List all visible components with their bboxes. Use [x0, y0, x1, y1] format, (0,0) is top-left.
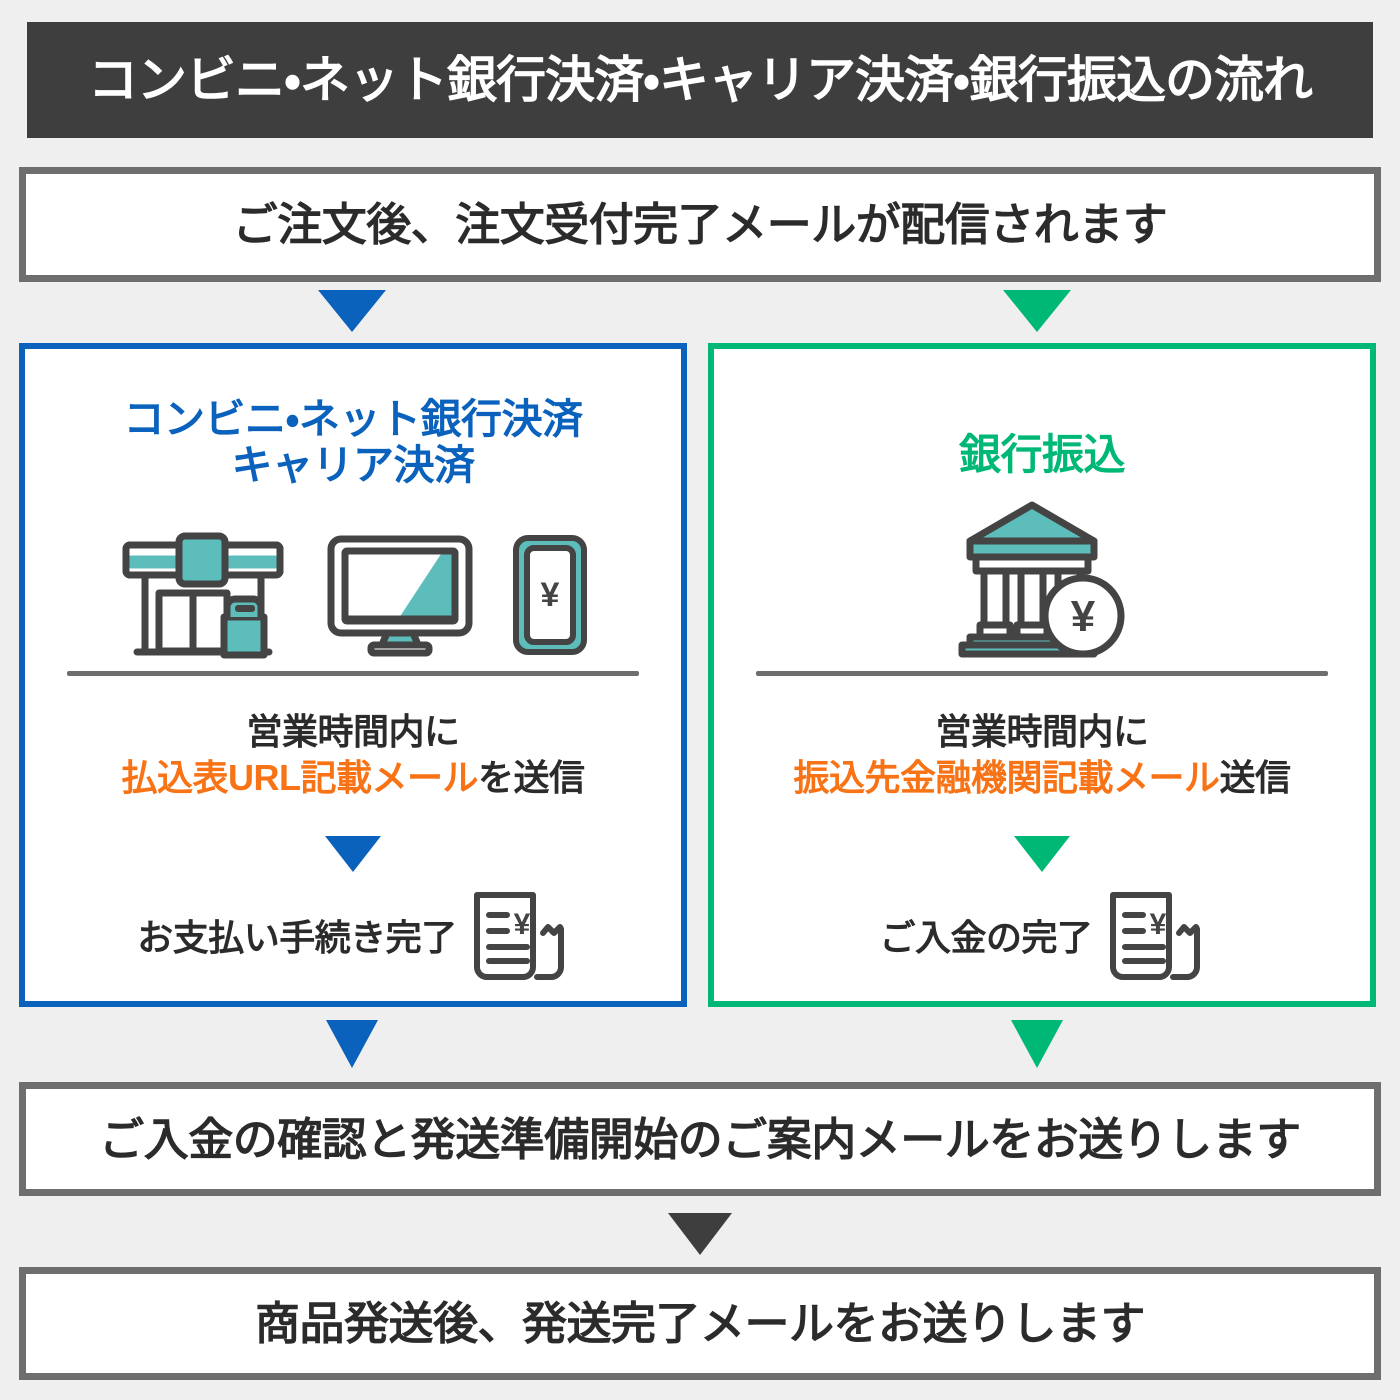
method-panel-bank-final: ご入金の完了 ¥: [714, 885, 1370, 985]
receipt-yen-icon: ¥: [1101, 887, 1205, 983]
method-panel-bank-heading-line1: 銀行振込: [959, 431, 1125, 478]
convenience-store-icon: [117, 531, 289, 659]
svg-text:¥: ¥: [1071, 592, 1096, 641]
method-panel-conveni-final: お支払い手続き完了 ¥: [25, 885, 681, 985]
method-panel-conveni-arrow-wrap: [25, 836, 681, 872]
down-arrow-icon-conveni-to-confirm: [326, 1020, 378, 1068]
bank-building-yen-icon: ¥: [956, 499, 1128, 659]
method-panel-conveni-note: 営業時間内に 払込表URL記載メールを送信: [25, 709, 681, 801]
method-panel-bank-note-suffix: 送信: [1220, 757, 1291, 798]
method-panel-conveni-note-line1: 営業時間内に: [246, 711, 459, 752]
down-arrow-icon-bank-step: [1014, 836, 1070, 872]
step-payment-confirmed-mail-label: ご入金の確認と発送準備開始のご案内メールをお送りします: [99, 1117, 1301, 1162]
method-panel-bank-note: 営業時間内に 振込先金融機関記載メール送信: [714, 709, 1370, 801]
step-order-received-mail-label: ご注文後、注文受付完了メールが配信されます: [233, 202, 1168, 247]
method-panel-bank-arrow-wrap: [714, 836, 1370, 872]
method-panel-conveni-divider: [67, 671, 639, 676]
diagram-title-bar: コンビニ・ネット銀行決済・キャリア決済・銀行振込の流れ: [27, 22, 1373, 138]
method-panel-conveni-note-highlight: 払込表URL記載メール: [121, 757, 478, 798]
method-panel-bank-heading: 銀行振込: [714, 431, 1370, 478]
down-arrow-icon-to-shipped: [668, 1213, 732, 1255]
down-arrow-icon-to-conveni: [318, 290, 386, 332]
method-panel-bank-note-line1: 営業時間内に: [935, 711, 1148, 752]
desktop-monitor-icon: [325, 533, 475, 657]
method-panel-bank-divider: [756, 671, 1328, 676]
down-arrow-icon-bank-to-confirm: [1011, 1020, 1063, 1068]
step-order-received-mail: ご注文後、注文受付完了メールが配信されます: [19, 167, 1381, 282]
down-arrow-icon-conveni-step: [325, 836, 381, 872]
smartphone-yen-icon: ¥: [511, 534, 589, 656]
method-panel-conveni-note-suffix: を送信: [478, 757, 585, 798]
down-arrow-icon-to-bank: [1003, 290, 1071, 332]
page-title: コンビニ・ネット銀行決済・キャリア決済・銀行振込の流れ: [88, 55, 1312, 105]
method-panel-bank-final-label: ご入金の完了: [879, 909, 1092, 961]
svg-text:¥: ¥: [1149, 908, 1166, 941]
method-panel-conveni: コンビニ・ネット銀行決済 キャリア決済: [19, 343, 687, 1007]
method-panel-conveni-final-label: お支払い手続き完了: [137, 909, 457, 961]
method-panel-conveni-heading-line2: キャリア決済: [232, 442, 475, 488]
svg-text:¥: ¥: [541, 576, 560, 614]
method-panel-bank: 銀行振込: [708, 343, 1376, 1007]
method-panel-conveni-icon-row: ¥: [25, 532, 681, 657]
method-panel-bank-note-highlight: 振込先金融機関記載メール: [793, 757, 1219, 798]
method-panel-conveni-heading-line1: コンビニ・ネット銀行決済: [124, 396, 583, 442]
method-panel-bank-icon-row: ¥: [714, 499, 1370, 659]
svg-text:¥: ¥: [513, 908, 530, 941]
receipt-yen-icon: ¥: [465, 887, 569, 983]
step-shipped-mail: 商品発送後、発送完了メールをお送りします: [19, 1267, 1381, 1380]
payment-flow-diagram: コンビニ・ネット銀行決済・キャリア決済・銀行振込の流れ ご注文後、注文受付完了メ…: [0, 0, 1400, 1400]
step-shipped-mail-label: 商品発送後、発送完了メールをお送りします: [255, 1301, 1145, 1346]
step-payment-confirmed-mail: ご入金の確認と発送準備開始のご案内メールをお送りします: [19, 1082, 1381, 1196]
method-panel-conveni-heading: コンビニ・ネット銀行決済 キャリア決済: [25, 397, 681, 489]
